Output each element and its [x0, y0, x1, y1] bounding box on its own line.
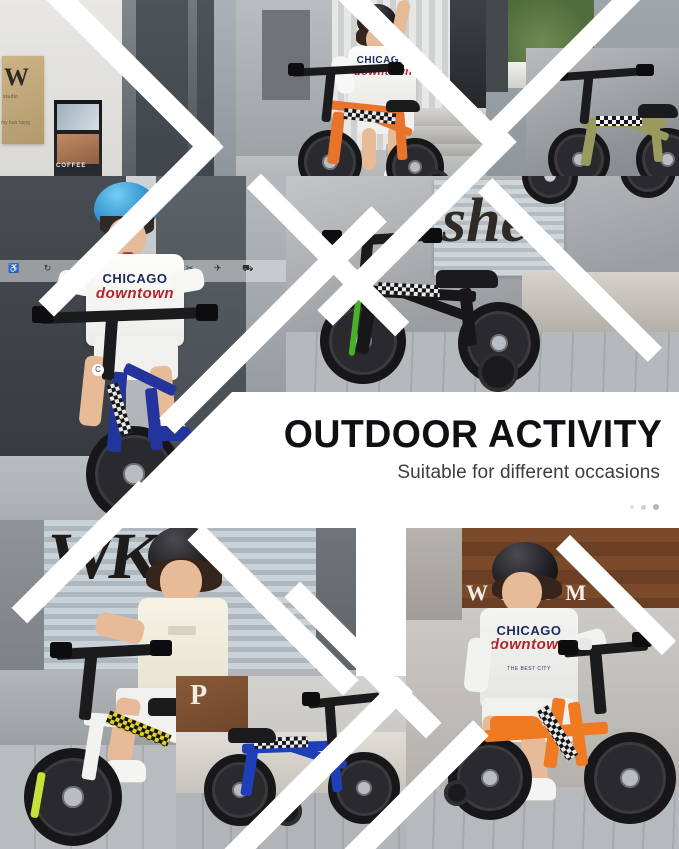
photo-boy-orange-bike-sign: WARM UP CHICAGOdowntown THE BEST CITY	[406, 520, 679, 849]
carousel-indicator[interactable]	[630, 504, 659, 510]
photo-blue-bike-ramp: P	[176, 676, 426, 849]
slide-dot-2[interactable]	[641, 505, 646, 510]
page-title: OUTDOOR ACTIVITY	[283, 413, 662, 457]
slide-dot-3[interactable]	[653, 504, 659, 510]
photo-black-bike-graffiti: she RIDE	[286, 176, 679, 428]
page-subtitle: Suitable for different occasions	[397, 462, 660, 484]
slide-dot-1[interactable]	[630, 505, 634, 509]
outdoor-activity-banner: W studio my hair hang COFFEE	[0, 0, 679, 849]
